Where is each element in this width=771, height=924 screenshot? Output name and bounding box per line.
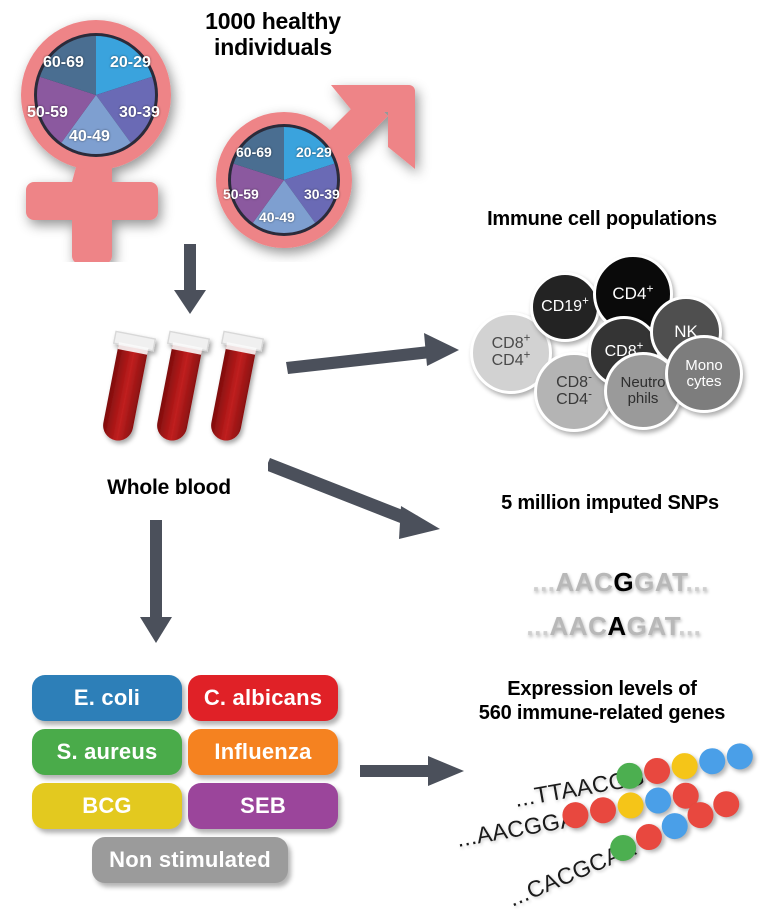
figure-canvas: 1000 healthy individuals <box>0 0 771 922</box>
cell-label-cd8n-cd4n: CD8-CD4- <box>556 375 592 408</box>
cell-label-neutrophils: Neutrophils <box>620 375 665 406</box>
arrow-blood-to-immune-cells <box>284 325 464 385</box>
dna-bead <box>670 751 700 781</box>
arrow-blood-to-stimulation <box>130 512 210 648</box>
cohort-heading: 1000 healthy individuals <box>178 8 368 60</box>
stimulation-saureus[interactable]: S. aureus <box>32 729 182 775</box>
snp-row2-suffix-dots: ... <box>678 611 701 641</box>
expression-strands: ...TTAACGG ...AACGGAT ...CACGCAA <box>440 738 771 918</box>
immune-cell-cluster: CD8+CD4+ CD8-CD4- CD19+ CD4+ CD8+ NK Neu… <box>452 240 752 410</box>
cell-label-monocytes: Monocytes <box>685 358 723 389</box>
stimulation-ecoli[interactable]: E. coli <box>32 675 182 721</box>
stimulation-calbicans[interactable]: C. albicans <box>188 675 338 721</box>
dna-bead <box>725 741 755 771</box>
expression-heading-line2: 560 immune-related genes <box>446 702 758 725</box>
expression-heading-line1: Expression levels of <box>452 678 752 701</box>
stimulation-non-stimulated[interactable]: Non stimulated <box>92 837 288 883</box>
age-pie-female <box>34 33 158 157</box>
snp-row2-variant: A <box>607 611 626 641</box>
stimulation-panel: E. coli C. albicans S. aureus Influenza … <box>30 675 350 895</box>
male-symbol: 20-29 30-39 40-49 50-59 60-69 <box>198 72 438 262</box>
dna-bead <box>642 756 672 786</box>
snp-row2-suffix: GAT <box>627 611 679 641</box>
cell-label-cd4p: CD4+ <box>612 285 653 303</box>
cell-monocytes: Monocytes <box>665 335 743 413</box>
stimulation-bcg[interactable]: BCG <box>32 783 182 829</box>
dna-bead <box>697 746 727 776</box>
cell-label-cd19p: CD19+ <box>541 299 589 316</box>
blood-tubes <box>92 330 272 450</box>
whole-blood-label: Whole blood <box>84 476 254 500</box>
arrow-cohort-to-blood <box>150 240 230 320</box>
stimulation-seb[interactable]: SEB <box>188 783 338 829</box>
stimulation-influenza[interactable]: Influenza <box>188 729 338 775</box>
cell-cd19p: CD19+ <box>530 272 600 342</box>
immune-cells-heading: Immune cell populations <box>452 208 752 231</box>
snp-row2-prefix: AAC <box>550 611 608 641</box>
snp-sequence-row: ...AACAGAT... <box>480 580 701 673</box>
snps-heading: 5 million imputed SNPs <box>470 492 750 515</box>
cell-label-cd8p-cd4p: CD8+CD4+ <box>492 336 531 369</box>
age-pie-male <box>228 124 340 236</box>
arrow-blood-to-snps <box>268 450 448 550</box>
snp-sequences: ...AACGGAT... ...AACAGAT... <box>480 532 750 632</box>
snp-row2-prefix-dots: ... <box>526 611 549 641</box>
female-symbol: 20-29 30-39 40-49 50-59 60-69 <box>6 12 186 262</box>
